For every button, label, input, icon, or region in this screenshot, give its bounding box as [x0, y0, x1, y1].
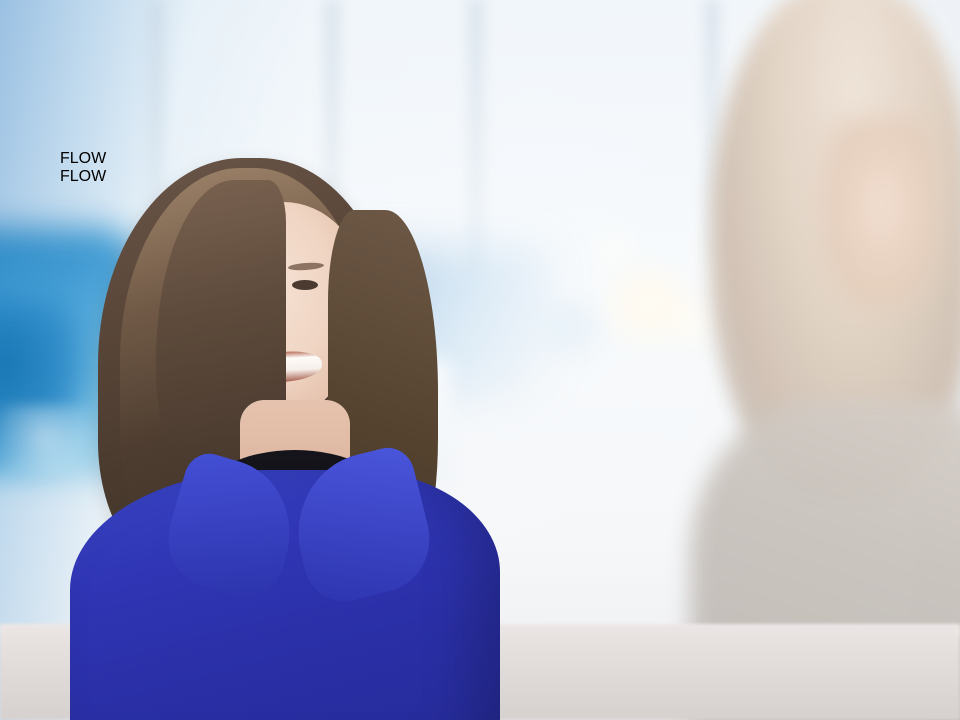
- name-badge-text: FLOW: [60, 150, 106, 167]
- shirt-placket: [288, 552, 310, 672]
- blurred-customer-face: [822, 120, 942, 310]
- employee-figure: FLOW FLOW: [60, 150, 530, 720]
- eye-right: [292, 280, 318, 290]
- bokeh-light: [668, 300, 714, 344]
- banner-graphic: FLOW FLOW Our Guiding Principle: [0, 0, 960, 720]
- bokeh-light: [596, 232, 632, 266]
- bokeh-light: [540, 300, 600, 356]
- background-photo: FLOW FLOW: [0, 0, 960, 720]
